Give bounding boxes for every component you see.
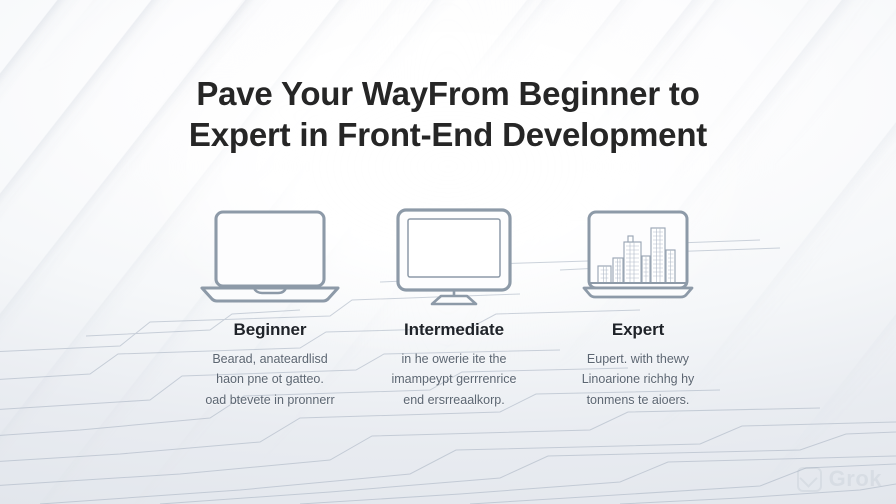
body-line: Bearad, anateardlisd [184,349,356,369]
page-title-line-1: Pave Your WayFrom Beginner to [120,74,776,115]
infographic-canvas: Grok Pave Your WayFrom Beginner to Exper… [0,0,896,504]
page-title-line-2: Expert in Front-End Development [120,115,776,156]
skill-level-columns: Beginner Bearad, anateardlisd haon pne o… [178,196,730,410]
column-intermediate: Intermediate in he owerie ite the imampe… [362,196,546,410]
column-body-intermediate: in he owerie ite the imampeypt gerrrenri… [368,349,540,410]
body-line: end ersrreaalkorp. [368,390,540,410]
column-beginner: Beginner Bearad, anateardlisd haon pne o… [178,196,362,410]
content-layer: Pave Your WayFrom Beginner to Expert in … [0,0,896,504]
body-line: tonmens te aioers. [552,390,724,410]
body-line: oad btevete in pronnerr [184,390,356,410]
cityscape-on-laptop-icon [562,196,714,314]
page-title: Pave Your WayFrom Beginner to Expert in … [0,74,896,156]
column-body-beginner: Bearad, anateardlisd haon pne ot gatteo.… [184,349,356,410]
laptop-icon [194,196,346,314]
body-line: Linoarione richhg hy [552,369,724,389]
body-line: imampeypt gerrrenrice [368,369,540,389]
column-expert: Expert Eupert. with thewy Linoarione ric… [546,196,730,410]
body-line: Eupert. with thewy [552,349,724,369]
column-title-beginner: Beginner [234,320,307,340]
body-line: in he owerie ite the [368,349,540,369]
column-title-expert: Expert [612,320,664,340]
column-body-expert: Eupert. with thewy Linoarione richhg hy … [552,349,724,410]
body-line: haon pne ot gatteo. [184,369,356,389]
column-title-intermediate: Intermediate [404,320,504,340]
desktop-monitor-icon [378,196,530,314]
